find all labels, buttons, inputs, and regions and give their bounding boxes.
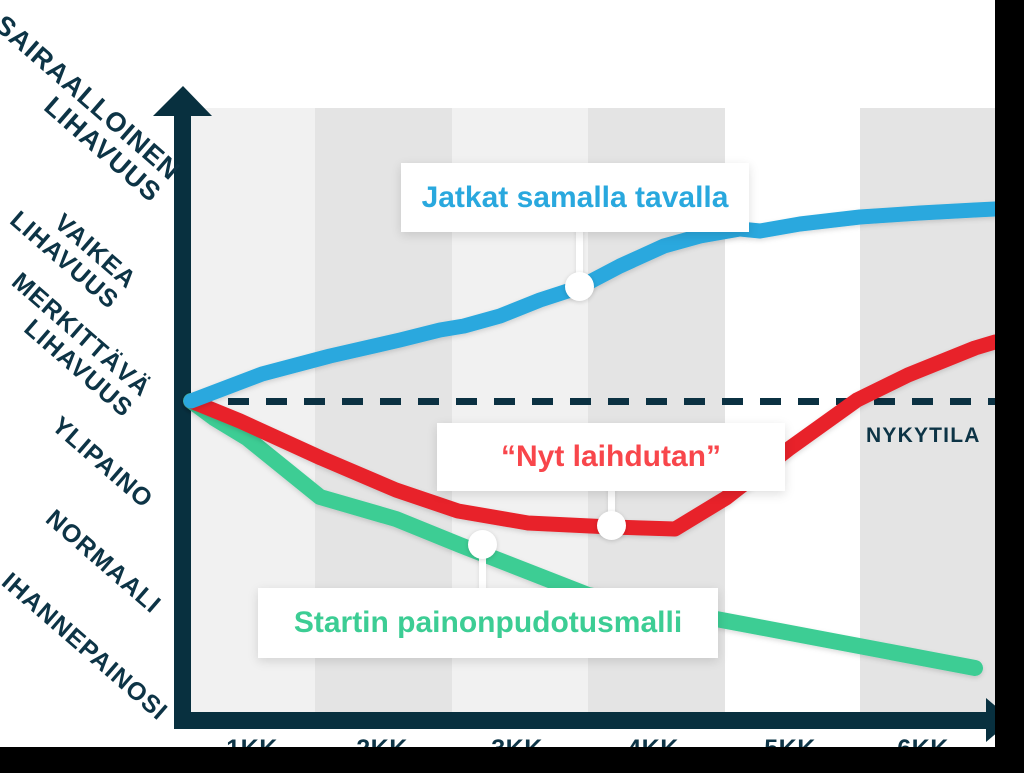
chart-canvas: NYKYTILA SAIRAALLOINEN LIHAVUUS VAIKEA L… — [0, 0, 1024, 773]
callout-knob-red — [597, 511, 626, 540]
callout-knob-green — [468, 530, 497, 559]
callout-knob-blue — [565, 272, 594, 301]
callout-jatkat-samalla-tavalla[interactable]: Jatkat samalla tavalla — [401, 163, 749, 232]
right-crop-bar — [995, 0, 1024, 773]
series-line-blue — [191, 209, 995, 401]
bottom-crop-bar — [0, 747, 1024, 773]
callout-startin-painonpudotusmalli[interactable]: Startin painonpudotusmalli — [258, 588, 718, 658]
callout-nyt-laihdutan[interactable]: “Nyt laihdutan” — [437, 423, 785, 491]
